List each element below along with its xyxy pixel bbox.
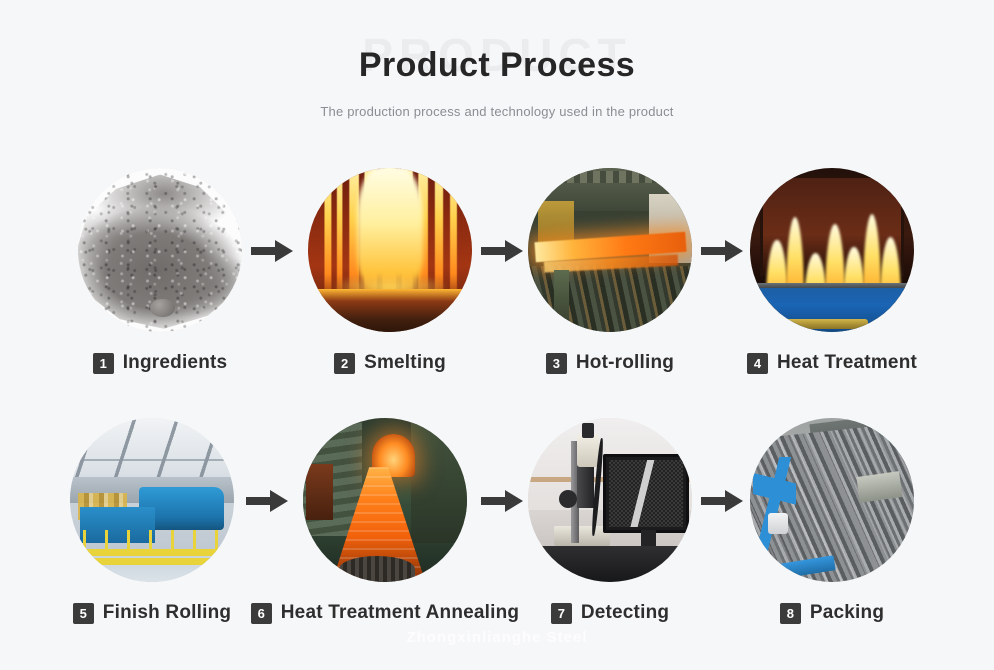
step-3-badge: 3 (546, 353, 567, 374)
step-7-caption: 7 Detecting (522, 602, 698, 624)
footer-watermark: Zhongxinlianghe Steel (0, 629, 994, 646)
process-step-8[interactable]: 8 Packing (744, 418, 920, 624)
process-step-1[interactable]: 1 Ingredients (72, 168, 248, 374)
arrow-right-icon-3 (699, 236, 745, 266)
process-row-1: 1 Ingredients 2 Smelting (0, 168, 994, 398)
step-5-label: Finish Rolling (103, 602, 231, 624)
step-7-badge: 7 (551, 603, 572, 624)
page-title: Product Process (0, 46, 994, 85)
arrow-right-icon-5 (479, 486, 525, 516)
step-5-caption: 5 Finish Rolling (64, 602, 240, 624)
process-step-6[interactable]: 6 Heat Treatment Annealing (297, 418, 473, 624)
process-step-4[interactable]: 4 Heat Treatment (744, 168, 920, 374)
step-8-image (750, 418, 914, 582)
step-1-image (78, 168, 242, 332)
step-4-caption: 4 Heat Treatment (744, 352, 920, 374)
process-step-2[interactable]: 2 Smelting (302, 168, 478, 374)
process-step-7[interactable]: 7 Detecting (522, 418, 698, 624)
step-7-label: Detecting (581, 602, 669, 624)
process-step-5[interactable]: 5 Finish Rolling (64, 418, 240, 624)
step-8-badge: 8 (780, 603, 801, 624)
step-8-caption: 8 Packing (744, 602, 920, 624)
step-6-caption: 6 Heat Treatment Annealing (297, 602, 473, 624)
step-5-image (70, 418, 234, 582)
step-4-label: Heat Treatment (777, 352, 917, 374)
step-5-badge: 5 (73, 603, 94, 624)
step-6-label: Heat Treatment Annealing (281, 602, 519, 624)
arrow-right-icon-2 (479, 236, 525, 266)
process-row-2: 5 Finish Rolling 6 Heat Treatment Anneal… (0, 418, 994, 648)
page-subtitle: The production process and technology us… (0, 104, 994, 119)
step-6-badge: 6 (251, 603, 272, 624)
step-2-caption: 2 Smelting (302, 352, 478, 374)
step-2-label: Smelting (364, 352, 446, 374)
step-1-caption: 1 Ingredients (72, 352, 248, 374)
step-3-label: Hot-rolling (576, 352, 674, 374)
step-2-badge: 2 (334, 353, 355, 374)
step-6-image (303, 418, 467, 582)
process-step-3[interactable]: 3 Hot-rolling (522, 168, 698, 374)
product-process-infographic: PRODUCT Product Process The production p… (0, 0, 994, 670)
arrow-right-icon-1 (249, 236, 295, 266)
step-1-badge: 1 (93, 353, 114, 374)
step-7-image (528, 418, 692, 582)
step-3-image (528, 168, 692, 332)
step-1-label: Ingredients (123, 352, 228, 374)
step-3-caption: 3 Hot-rolling (522, 352, 698, 374)
step-4-image (750, 168, 914, 332)
step-2-image (308, 168, 472, 332)
step-4-badge: 4 (747, 353, 768, 374)
header: PRODUCT Product Process The production p… (0, 0, 994, 150)
step-8-label: Packing (810, 602, 884, 624)
arrow-right-icon-4 (244, 486, 290, 516)
arrow-right-icon-6 (699, 486, 745, 516)
